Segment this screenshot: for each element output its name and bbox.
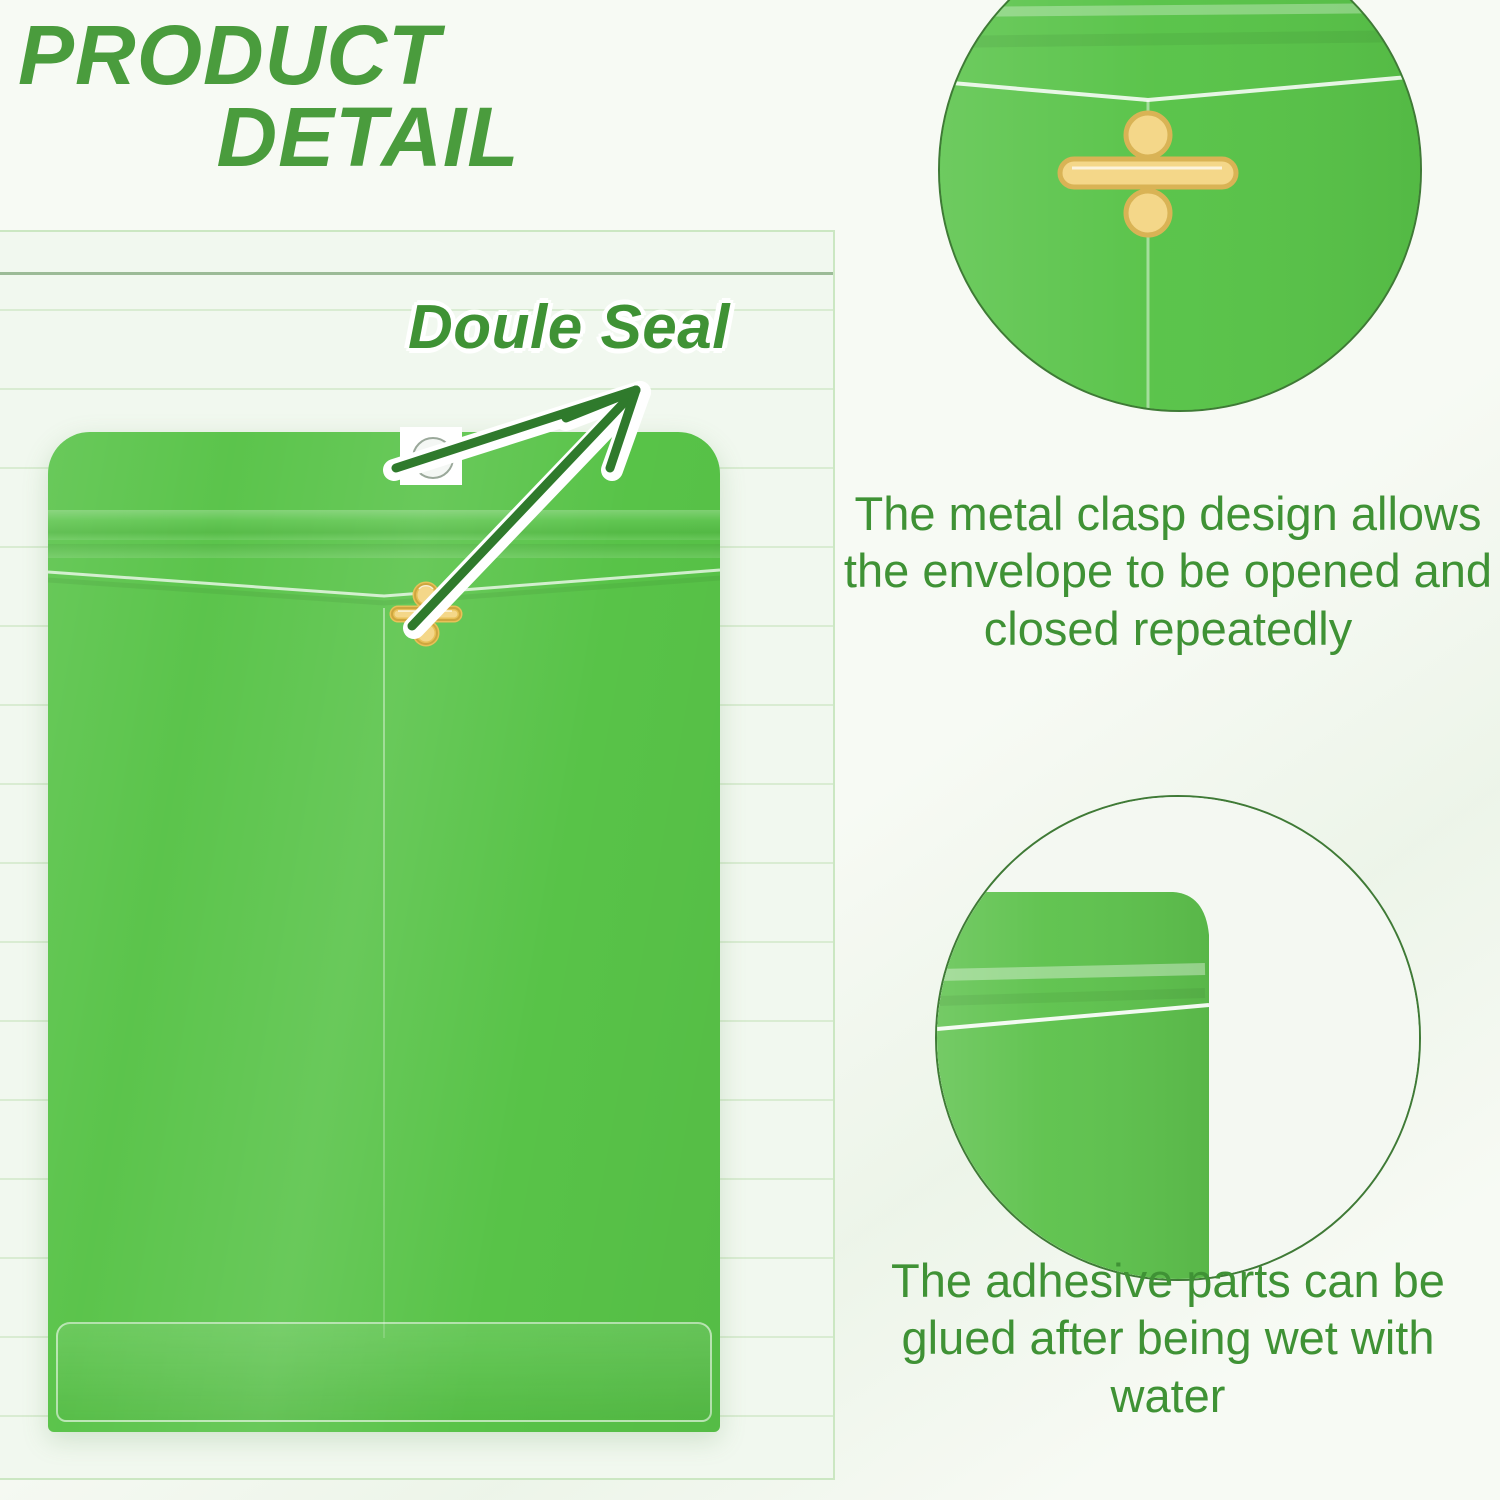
callout-label-doule-seal: Doule Seal [408, 292, 730, 363]
envelope-flap-band [48, 510, 720, 540]
inset-caption-adhesive: The adhesive parts can be glued after be… [838, 1252, 1498, 1424]
paper-header-rule [0, 272, 833, 275]
page-title-line-1: PRODUCT [18, 8, 440, 102]
envelope-illustration [48, 432, 720, 1432]
inset-caption-clasp: The metal clasp design allows the envelo… [838, 485, 1498, 657]
page-title: PRODUCT DETAIL [18, 14, 678, 179]
adhesive-closeup-art [937, 797, 1419, 1279]
product-detail-image: PRODUCT DETAIL [0, 0, 1500, 1500]
metal-clasp-icon [384, 577, 468, 651]
page-title-line-2: DETAIL [18, 96, 678, 178]
envelope-center-seam [383, 608, 385, 1338]
clasp-closeup-art [940, 0, 1420, 410]
punch-hole-icon [412, 437, 454, 479]
punch-hole-tab [400, 427, 462, 485]
envelope-bottom-flap [56, 1322, 712, 1422]
inset-clasp-closeup [938, 0, 1422, 412]
inset-adhesive-closeup [935, 795, 1421, 1281]
